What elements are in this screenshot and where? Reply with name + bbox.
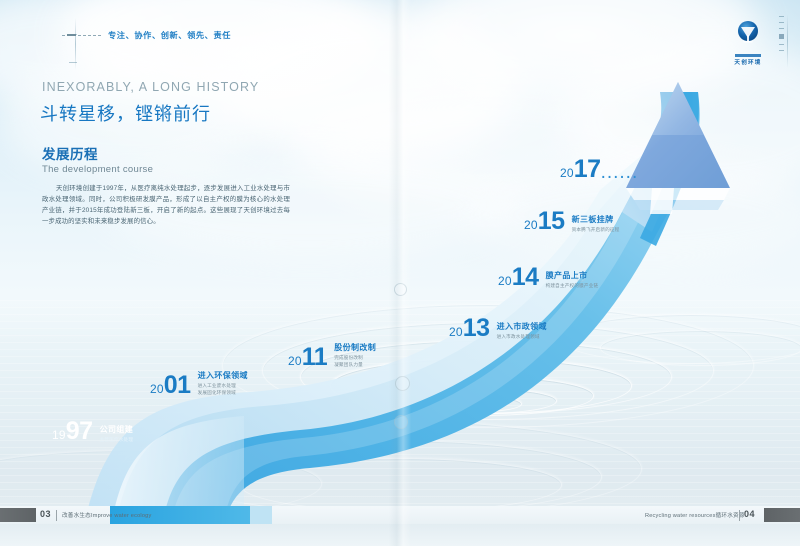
brand-tagline: 专注、协作、创新、领先、责任 [62,29,231,41]
bubble-decoration [394,283,407,296]
logo-rule [787,14,788,68]
milestone-text: 膜产品上市 构建自主产权的膜产业链 [546,271,599,290]
footer-accent-left-fade [250,506,272,524]
milestone-year: 2014 [498,266,539,290]
milestone-desc-1: 进入工业废水处理 [198,383,248,389]
milestone-title: 进入市政领域 [497,322,547,332]
milestone-desc-2: 凝聚团队力量 [334,362,376,368]
milestone-year: 2015 [524,210,565,234]
milestone-desc-1: 构建自主产权的膜产业链 [546,283,599,289]
milestone-title: 公司组建 [100,425,134,435]
bubble-decoration [395,376,410,391]
intro-paragraph: 天创环境创建于1997年，从医疗离纯水处理起步，逐步发展进入工业水处理与市政水处… [42,183,290,227]
milestone-year: 2017 [560,158,601,182]
milestone-2015[interactable]: 2015 新三板挂牌 资本腾飞开启新的征程 [524,210,620,234]
brand-tagline-text: 专注、协作、创新、领先、责任 [108,29,231,41]
milestone-title: 新三板挂牌 [572,215,620,225]
footer-divider-left [56,510,57,521]
footer-page-left: 03 [40,509,51,519]
milestone-2014[interactable]: 2014 膜产品上市 构建自主产权的膜产业链 [498,266,598,290]
milestone-text: 公司组建 主营医疗水处理 [100,425,134,444]
milestone-desc-1: 资本腾飞开启新的征程 [572,227,620,233]
milestone-desc-1: 完成股份改制 [334,355,376,361]
milestone-2011[interactable]: 2011 股份制改制 完成股份改制 凝聚团队力量 [288,343,376,369]
footer-caption-right: Recycling water resources循环水资源 [645,511,745,519]
milestone-year: 2013 [449,317,490,341]
company-logo: 天创环境 [726,18,770,62]
logo-company-name: 天创环境 [726,58,770,66]
tagline-tick [69,62,77,63]
footer-right-block [764,508,800,522]
section-title: 发展历程 [42,143,98,163]
footer-caption-left-en: Improve water ecology [91,513,151,519]
milestone-title: 进入环保领域 [198,371,248,381]
logo-underline [735,54,761,57]
footer-caption-left: 改善水生态Improve water ecology [62,511,151,519]
milestone-year: 2001 [150,374,191,398]
milestone-title: 膜产品上市 [546,271,599,281]
footer-caption-left-cn: 改善水生态 [62,513,91,519]
brochure-page: 专注、协作、创新、领先、责任 天创环境 INEXORABLY, A LONG H… [0,0,800,546]
footer-left-block [0,508,36,522]
milestone-year: 1997 [52,420,93,444]
milestone-desc-1: 进入市政水处理领域 [497,334,547,340]
section-subtitle: The development course [42,164,153,175]
milestone-text: 进入环保领域 进入工业废水处理 发展固化环保领域 [198,371,248,397]
milestone-year: 2011 [288,346,327,370]
page-subtitle-english: INEXORABLY, A LONG HISTORY [42,80,259,94]
footer-shadow [0,524,800,546]
milestone-title: 股份制改制 [334,343,376,353]
cloud-haze [0,0,800,300]
page-title: 斗转星移，铿锵前行 [40,100,211,126]
milestone-2017[interactable]: 2017 ...... [560,158,638,182]
page-footer: 03 改善水生态Improve water ecology Recycling … [0,506,800,546]
milestone-2013[interactable]: 2013 进入市政领域 进入市政水处理领域 [449,317,547,341]
milestone-text: 新三板挂牌 资本腾飞开启新的征程 [572,215,620,234]
dots-ornament-icon [62,34,101,36]
milestone-1997[interactable]: 1997 公司组建 主营医疗水处理 [52,420,133,444]
milestone-desc-1: 主营医疗水处理 [100,437,134,443]
milestone-desc-2: 发展固化环保领域 [198,390,248,396]
milestone-text: 股份制改制 完成股份改制 凝聚团队力量 [334,343,376,369]
bubble-decoration [394,415,408,429]
footer-divider-right [739,510,740,521]
milestone-text: 进入市政领域 进入市政水处理领域 [497,322,547,341]
milestone-2001[interactable]: 2001 进入环保领域 进入工业废水处理 发展固化环保领域 [150,371,248,397]
footer-caption-right-en: Recycling water resources [645,513,716,519]
logo-mark-icon [733,18,763,48]
milestone-trailing-dots: ...... [601,164,639,182]
footer-caption-right-cn: 循环水资源 [716,513,745,519]
footer-page-right: 04 [744,509,755,519]
